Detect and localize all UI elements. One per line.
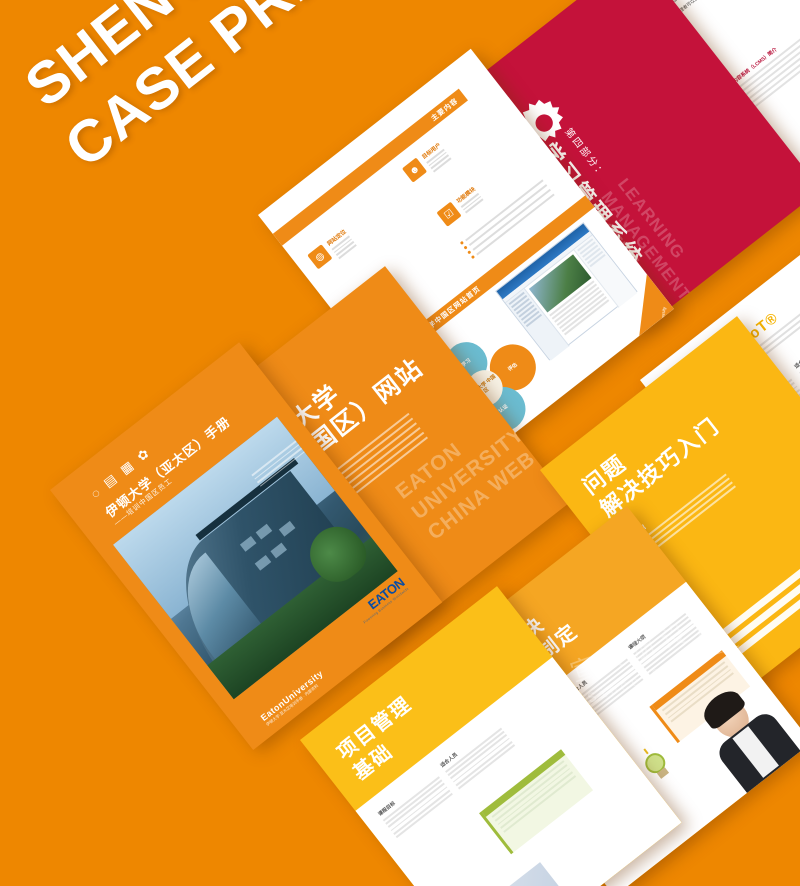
gear-icon: ✿: [134, 446, 152, 465]
checklist-icon: ☑: [436, 202, 461, 227]
list-item-text: 通过该平台员工可以自主学习、报名参加培训课程: [667, 0, 749, 7]
poster-canvas: SHENYOUMEI CASE PRESENTATION 学习管理系统（LMS）…: [0, 0, 800, 886]
magnifier-icon: ◌: [87, 484, 102, 501]
book-icon: ▤: [100, 471, 120, 491]
cover-footer-name: EatonUniversity: [259, 668, 325, 723]
cover-footer: EatonUniversity 伊顿大学·亚太区培训手册 · 内部资料: [259, 668, 329, 727]
globe-icon: ◍: [307, 244, 332, 269]
grid-icon: ▦: [117, 458, 137, 478]
list-item-text: 管理者可以查看团队成员的学习记录与完成情况: [675, 0, 753, 17]
user-icon: ☻: [402, 157, 427, 182]
